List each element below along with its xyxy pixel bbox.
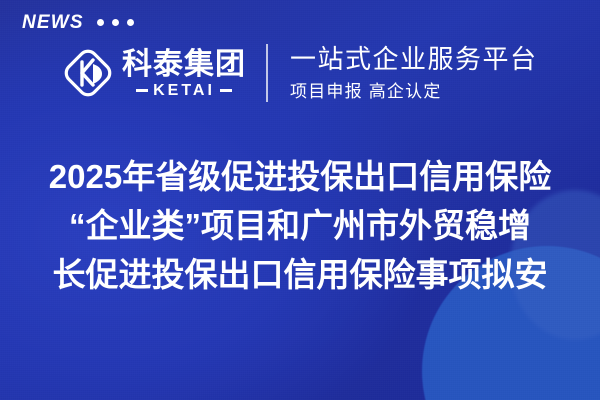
headline-line-3: 长促进投保出口信用保险事项拟安 [18, 250, 582, 299]
news-banner: NEWS 科泰集团 KETAI 一站式企业服务平台 [0, 0, 600, 400]
news-dots-decoration [97, 19, 134, 26]
news-label: NEWS [22, 13, 84, 32]
brand-name-en-row: KETAI [136, 83, 232, 99]
brand-name-cn: 科泰集团 [122, 49, 246, 81]
headline-line-2: “企业类”项目和广州市外贸稳增 [18, 201, 582, 250]
wordmark-rule-left-icon [136, 89, 148, 92]
news-dot-icon [127, 19, 134, 26]
brand-name-en: KETAI [153, 83, 215, 99]
headline-line-1: 2025年省级促进投保出口信用保险 [18, 152, 582, 201]
news-kicker: NEWS [22, 13, 134, 32]
tagline-block: 一站式企业服务平台 项目申报 高企认定 [290, 44, 538, 102]
page-title: 2025年省级促进投保出口信用保险 “企业类”项目和广州市外贸稳增 长促进投保出… [0, 152, 600, 299]
news-dot-icon [97, 19, 104, 26]
tagline-sub: 项目申报 高企认定 [290, 81, 538, 102]
news-dot-icon [112, 19, 119, 26]
wordmark-rule-right-icon [220, 89, 232, 92]
ketai-diamond-kd-logo-icon [62, 44, 114, 102]
brand-divider [266, 44, 268, 102]
tagline-main: 一站式企业服务平台 [290, 44, 538, 75]
brand-lockup: 科泰集团 KETAI 一站式企业服务平台 项目申报 高企认定 [62, 44, 538, 102]
brand-wordmark: 科泰集团 KETAI [122, 49, 246, 99]
